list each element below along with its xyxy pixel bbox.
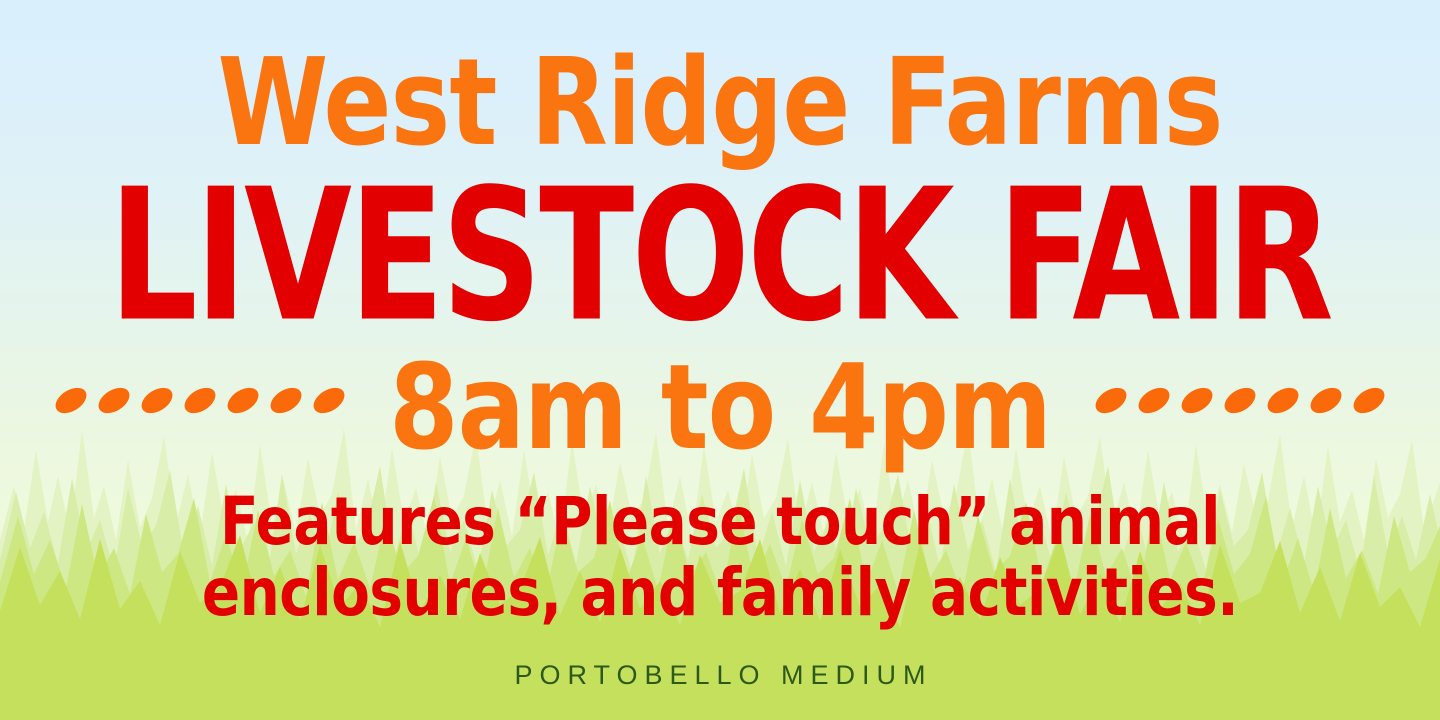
slanted-dash-icon xyxy=(223,383,263,419)
description-line-2: enclosures, and family activities. xyxy=(36,557,1404,628)
slanted-dash-icon xyxy=(1220,383,1260,419)
ornament-dashes-left xyxy=(54,390,346,411)
poster-canvas: West Ridge Farms LIVESTOCK FAIR 8am to 4… xyxy=(0,0,1440,720)
slanted-dash-icon xyxy=(51,383,91,419)
slanted-dash-icon xyxy=(94,383,134,419)
hours-text: 8am to 4pm xyxy=(389,348,1051,466)
slanted-dash-icon xyxy=(309,383,349,419)
brand-line: West Ridge Farms xyxy=(50,44,1389,164)
slanted-dash-icon xyxy=(1349,383,1389,419)
description-block: Features “Please touch” animal enclosure… xyxy=(36,486,1404,629)
slanted-dash-icon xyxy=(1306,383,1346,419)
slanted-dash-icon xyxy=(1263,383,1303,419)
slanted-dash-icon xyxy=(1134,383,1174,419)
slanted-dash-icon xyxy=(1091,383,1131,419)
font-name-caption: PORTOBELLO MEDIUM xyxy=(0,662,1440,689)
description-line-1: Features “Please touch” animal xyxy=(36,486,1404,557)
page-title: LIVESTOCK FAIR xyxy=(72,165,1368,347)
poster-content: West Ridge Farms LIVESTOCK FAIR 8am to 4… xyxy=(0,0,1440,720)
ornament-dashes-right xyxy=(1094,390,1386,411)
slanted-dash-icon xyxy=(137,383,177,419)
slanted-dash-icon xyxy=(180,383,220,419)
hours-row: 8am to 4pm xyxy=(0,348,1440,478)
slanted-dash-icon xyxy=(266,383,306,419)
slanted-dash-icon xyxy=(1177,383,1217,419)
